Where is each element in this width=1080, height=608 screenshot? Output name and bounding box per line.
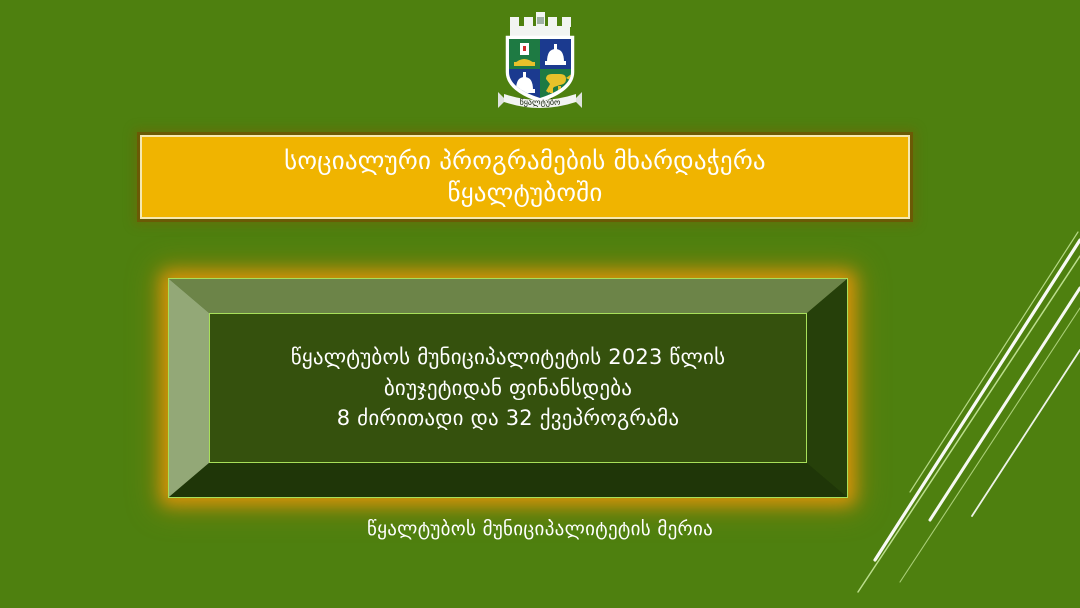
title-line-1: სოციალური პროგრამების მხარდაჭერა (284, 145, 766, 177)
bevel-left (169, 279, 209, 497)
bevel-bottom (169, 463, 847, 497)
title-banner: სოციალური პროგრამების მხარდაჭერა წყალტუბ… (137, 132, 913, 222)
slide-canvas: წყალტუბო სოციალური პროგრამების მხარდაჭერ… (0, 0, 1080, 608)
footer-caption: წყალტუბოს მუნიციპალიტეტის მერია (0, 518, 1080, 540)
content-line-3: 8 ძირითადი და 32 ქვეპროგრამა (337, 403, 679, 433)
bevel-top (169, 279, 847, 313)
mural-crown-icon (510, 12, 571, 36)
content-frame: წყალტუბოს მუნიციპალიტეტის 2023 წლის ბიუჯ… (168, 278, 848, 498)
bevel-right (807, 279, 847, 497)
ribbon-text: წყალტუბო (520, 97, 561, 107)
content-panel: წყალტუბოს მუნიციპალიტეტის 2023 წლის ბიუჯ… (209, 313, 807, 463)
title-line-2: წყალტუბოში (447, 177, 602, 209)
shield-icon (507, 37, 573, 101)
coat-of-arms: წყალტუბო (0, 4, 1080, 110)
content-line-2: ბიუჯეტიდან ფინანსდება (384, 373, 632, 403)
content-line-1: წყალტუბოს მუნიციპალიტეტის 2023 წლის (291, 342, 726, 372)
